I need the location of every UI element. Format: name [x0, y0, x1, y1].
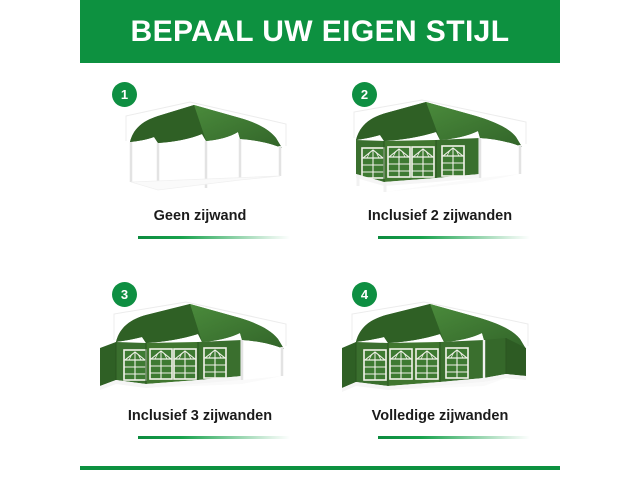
- option-label-4: Volledige zijwanden: [320, 408, 560, 424]
- header-banner: BEPAAL UW EIGEN STIJL: [80, 0, 560, 63]
- option-card-2[interactable]: 2: [320, 70, 560, 260]
- option-card-1[interactable]: 1: [80, 70, 320, 260]
- option-underline-2: [378, 236, 530, 239]
- tent-three-walls-icon: [90, 296, 310, 404]
- promo-graphic-page: BEPAAL UW EIGEN STIJL 1: [0, 0, 640, 480]
- tent-two-walls-icon: [330, 96, 550, 204]
- option-card-3[interactable]: 3: [80, 270, 320, 460]
- tent-no-walls-icon: [90, 96, 310, 204]
- option-underline-3: [138, 436, 290, 439]
- tent-full-walls-icon: [330, 296, 550, 404]
- option-underline-4: [378, 436, 530, 439]
- option-card-4[interactable]: 4: [320, 270, 560, 460]
- option-label-1: Geen zijwand: [80, 208, 320, 224]
- options-grid: 1: [80, 70, 560, 455]
- option-underline-1: [138, 236, 290, 239]
- footer-divider: [80, 466, 560, 470]
- option-label-3: Inclusief 3 zijwanden: [80, 408, 320, 424]
- page-title: BEPAAL UW EIGEN STIJL: [131, 17, 510, 47]
- option-label-2: Inclusief 2 zijwanden: [320, 208, 560, 224]
